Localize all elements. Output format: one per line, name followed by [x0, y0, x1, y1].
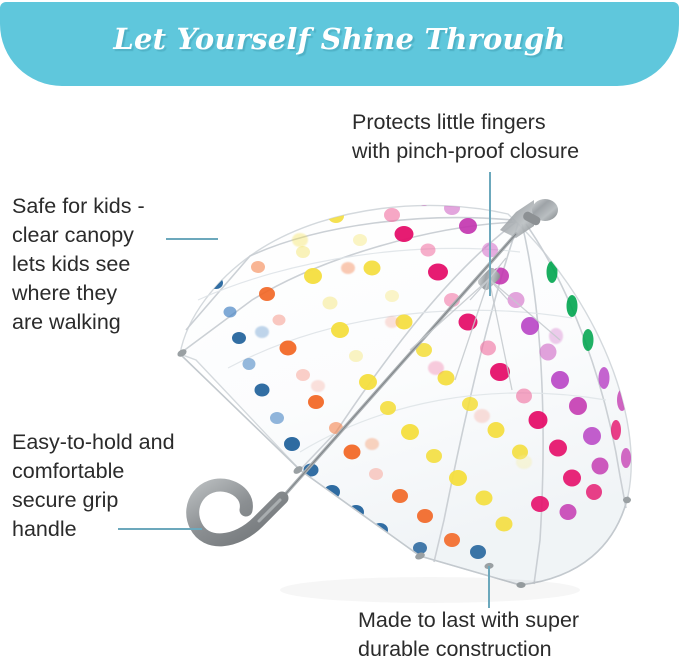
canopy-rib-tips [176, 348, 631, 588]
callout-secure-grip-handle: Easy-to-hold and comfortable secure grip… [12, 428, 175, 544]
umbrella-canopy [180, 190, 631, 585]
umbrella-shaft [282, 234, 516, 498]
callout-pinch-proof-closure: Protects little fingers with pinch-proof… [352, 108, 579, 166]
leader-line-durable [488, 566, 490, 608]
page-title: Let Yourself Shine Through [0, 2, 679, 76]
leader-line-closure [489, 172, 491, 296]
callout-clear-canopy: Safe for kids - clear canopy lets kids s… [12, 192, 145, 337]
callout-durable-construction: Made to last with super durable construc… [358, 606, 579, 664]
header-banner: Let Yourself Shine Through [0, 2, 679, 86]
umbrella-finial [500, 199, 558, 238]
leader-line-canopy [166, 238, 218, 240]
polka-dot-pattern [203, 190, 631, 559]
umbrella-stretchers [410, 279, 560, 390]
umbrella-handle [193, 485, 282, 540]
